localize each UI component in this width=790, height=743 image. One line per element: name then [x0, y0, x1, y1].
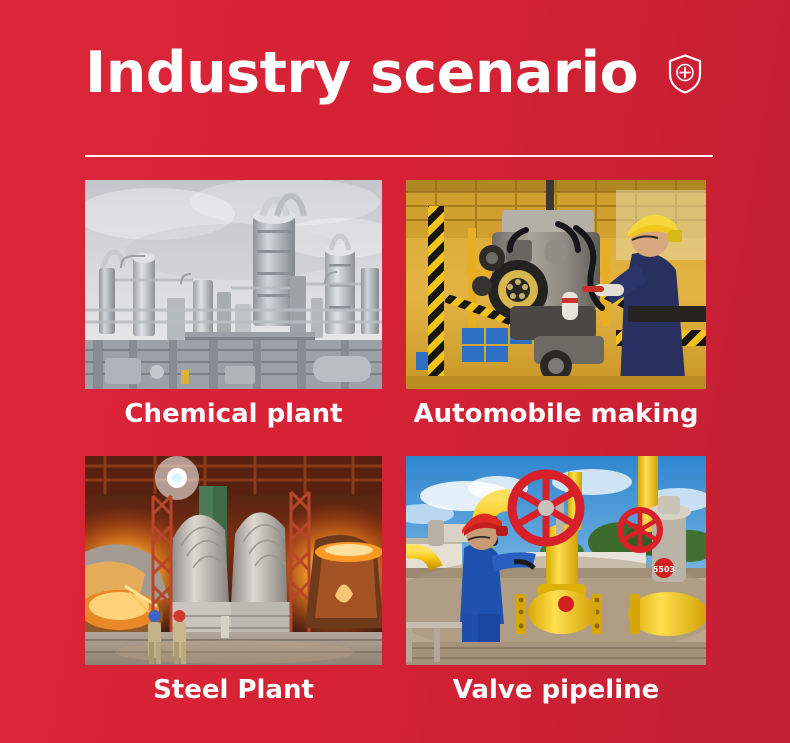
card-steel-plant[interactable]: Steel Plant: [85, 456, 382, 708]
card-valve-pipeline[interactable]: 5503: [406, 456, 706, 708]
card-caption-valve-pipeline: Valve pipeline: [406, 665, 706, 708]
card-image-steel-plant: [85, 456, 382, 665]
card-caption-steel-plant: Steel Plant: [85, 665, 382, 708]
card-image-automobile-making: [406, 180, 706, 389]
card-caption-automobile-making: Automobile making: [406, 389, 706, 432]
title-row: Industry scenario: [85, 44, 713, 104]
shield-plus-icon: [666, 53, 704, 95]
card-chemical-plant[interactable]: Chemical plant: [85, 180, 382, 432]
card-image-chemical-plant: [85, 180, 382, 389]
page-header: Industry scenario: [85, 44, 713, 156]
card-image-valve-pipeline: 5503: [406, 456, 706, 665]
header-divider: [85, 155, 713, 157]
valve-tag-label: 5503: [653, 565, 675, 574]
industry-scenario-grid: Chemical plant: [85, 180, 706, 708]
card-automobile-making[interactable]: Automobile making: [406, 180, 706, 432]
page-title: Industry scenario: [85, 44, 638, 104]
card-caption-chemical-plant: Chemical plant: [85, 389, 382, 432]
